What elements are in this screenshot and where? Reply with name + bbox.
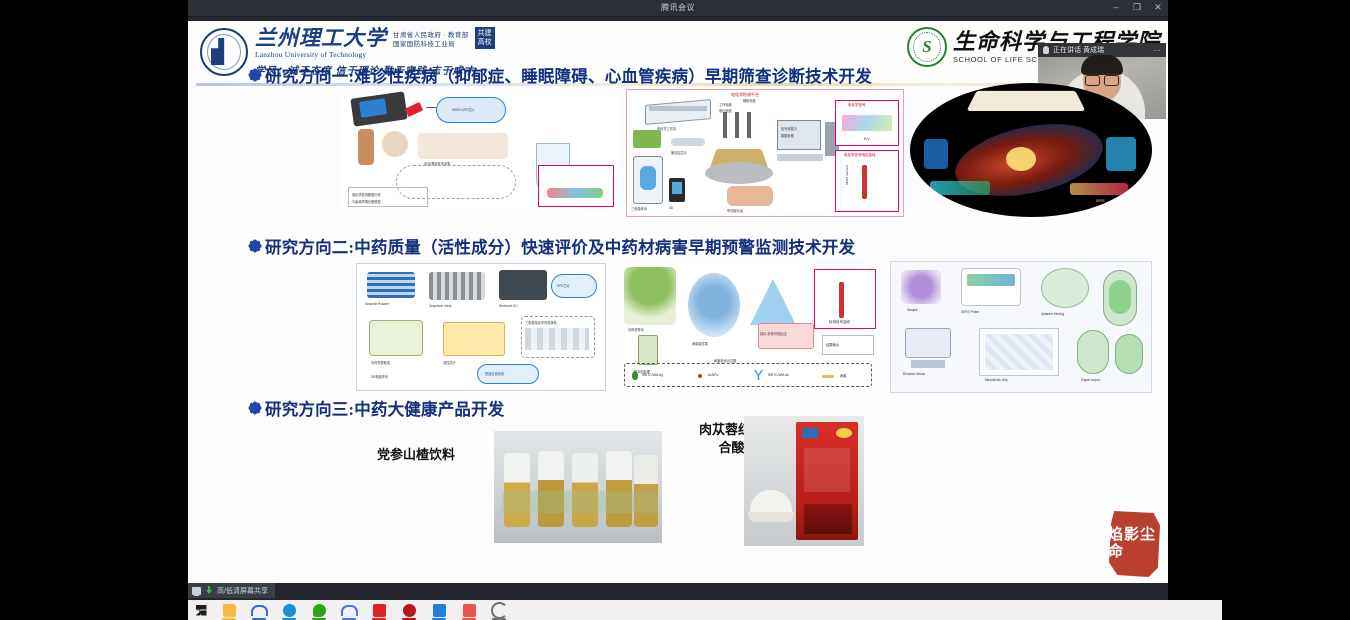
- badge-line-2: 高校: [478, 38, 492, 47]
- taskbar-item-notes-app[interactable]: [424, 600, 454, 620]
- window-titlebar: 腾讯会议 – ❐ ✕: [188, 0, 1168, 17]
- asterisk-bullet-icon: [248, 69, 261, 82]
- minimize-icon[interactable]: –: [1110, 1, 1122, 13]
- red-seal-stamp: 焰影尘命: [1108, 511, 1160, 577]
- microphone-icon: [1043, 46, 1049, 54]
- window-controls: – ❐ ✕: [1110, 1, 1164, 13]
- taskbar-item-browser-arc[interactable]: [244, 600, 274, 620]
- close-icon[interactable]: ✕: [1152, 1, 1164, 13]
- legend-label-0: RBITC/WM-Ag: [642, 373, 663, 377]
- screen-share-status[interactable]: 高/低清屏幕共享: [188, 583, 275, 598]
- green-probe-icon: [632, 371, 638, 380]
- taskbar-item-browser-arc-2[interactable]: [334, 600, 364, 620]
- university-name-cn: 兰州理工大学: [255, 27, 387, 49]
- windows-start-icon[interactable]: [188, 600, 214, 620]
- direction-2-title: 研究方向二:中药质量（活性成分）快速评价及中药材病害早期预警监测技术开发: [265, 234, 855, 258]
- red-dot-icon: [698, 374, 702, 378]
- window-title: 腾讯会议: [188, 2, 1168, 13]
- legend-label-1: AuNPs: [708, 373, 718, 377]
- windows-taskbar: 16:40: [188, 600, 1350, 620]
- university-name-en: Lanzhou University of Technology: [255, 50, 495, 59]
- more-options-icon[interactable]: ⋯: [1153, 46, 1162, 55]
- figure-aptamer-aunp-assay: 中药材样本 样本前处理 病原菌富集 探针-抗体识别反应 检测信号曲线 结果输出 …: [618, 261, 878, 391]
- figure-electrochemical-detection-platform: 电化学检测平台 电化学工作站 微流控芯片 工作电极 辅助电极 参比电极 信号采集…: [626, 89, 904, 217]
- taskbar-item-media-app[interactable]: [484, 600, 514, 620]
- herbal-beverage-bottles-photo: [494, 431, 662, 543]
- direction-3-title: 研究方向三:中药大健康产品开发: [265, 396, 505, 420]
- coop-line-1: 甘肃省人民政府 · 教育部: [393, 31, 469, 40]
- stamp-text: 焰影尘命: [1108, 511, 1160, 577]
- speaker-status-label: 正在讲话 黄成瑞: [1053, 45, 1104, 55]
- screen-root: 腾讯会议 – ❐ ✕ 兰州理工大学 甘肃省人民政府 ·: [0, 0, 1350, 620]
- taskbar-right-filler: [1222, 600, 1350, 620]
- yellow-line-icon: [822, 375, 834, 378]
- taskbar-item-marker-app[interactable]: [364, 600, 394, 620]
- screen-share-icon: [192, 587, 201, 595]
- taskbar-item-wechat[interactable]: [304, 600, 334, 620]
- direction-2-heading: 研究方向二:中药质量（活性成分）快速评价及中药材病害早期预警监测技术开发: [248, 234, 855, 258]
- download-quality-icon: [205, 586, 213, 595]
- direction-1-heading: 研究方向一:难诊性疾病（抑郁症、睡眠障碍、心血管疾病）早期筛查诊断技术开发: [248, 63, 872, 87]
- figure-portable-biosensor-workflow: SERS-SPE芯片 血清/唾液样本采集 电化学检测数据分析 与疾病早期诊断模型: [340, 91, 620, 213]
- asterisk-bullet-icon: [248, 240, 261, 253]
- figure-nanoprobe-cell-imaging: AuNPs SERS: [910, 83, 1152, 217]
- taskbar-item-edge-browser[interactable]: [274, 600, 304, 620]
- product-caption-1: 党参山楂饮料: [336, 446, 496, 464]
- university-seal-icon: [200, 28, 248, 76]
- figure-herb-disease-early-warning: Sample SERS Probe Aptamer binding Readou…: [890, 261, 1152, 393]
- restore-icon[interactable]: ❐: [1131, 1, 1143, 13]
- shared-slide: 兰州理工大学 甘肃省人民政府 · 教育部 国家国防科技工业局 共建 高校 Lan…: [188, 21, 1168, 583]
- badge-line-1: 共建: [478, 29, 492, 38]
- direction-1-title: 研究方向一:难诊性疾病（抑郁症、睡眠障碍、心血管疾病）早期筛查诊断技术开发: [265, 63, 872, 87]
- taskbar-item-pdf-app[interactable]: [454, 600, 484, 620]
- video-person-glasses: [1085, 73, 1119, 82]
- legend-label-3: 病害: [840, 373, 846, 378]
- direction-3-heading: 研究方向三:中药大健康产品开发: [248, 396, 505, 420]
- coop-line-2: 国家国防科技工业局: [393, 40, 469, 49]
- school-seal-icon: [907, 27, 947, 67]
- cistanche-jujube-yogurt-photo: [744, 416, 864, 546]
- taskbar-item-file-explorer[interactable]: [214, 600, 244, 620]
- taskbar-item-record-app[interactable]: [394, 600, 424, 620]
- video-person-hair: [1081, 55, 1123, 75]
- legend-label-2: RBITC/WM-Ab: [768, 373, 789, 377]
- asterisk-bullet-icon: [248, 402, 261, 415]
- video-status-bar: 正在讲话 黄成瑞: [1038, 43, 1166, 57]
- figure-graphene-electrode-synthesis: Graphite Powder Graphene oxide Reduced G…: [356, 263, 606, 391]
- tencent-meeting-window: 腾讯会议 – ❐ ✕ 兰州理工大学 甘肃省人民政府 ·: [188, 0, 1168, 620]
- screen-share-label: 高/低清屏幕共享: [217, 586, 268, 596]
